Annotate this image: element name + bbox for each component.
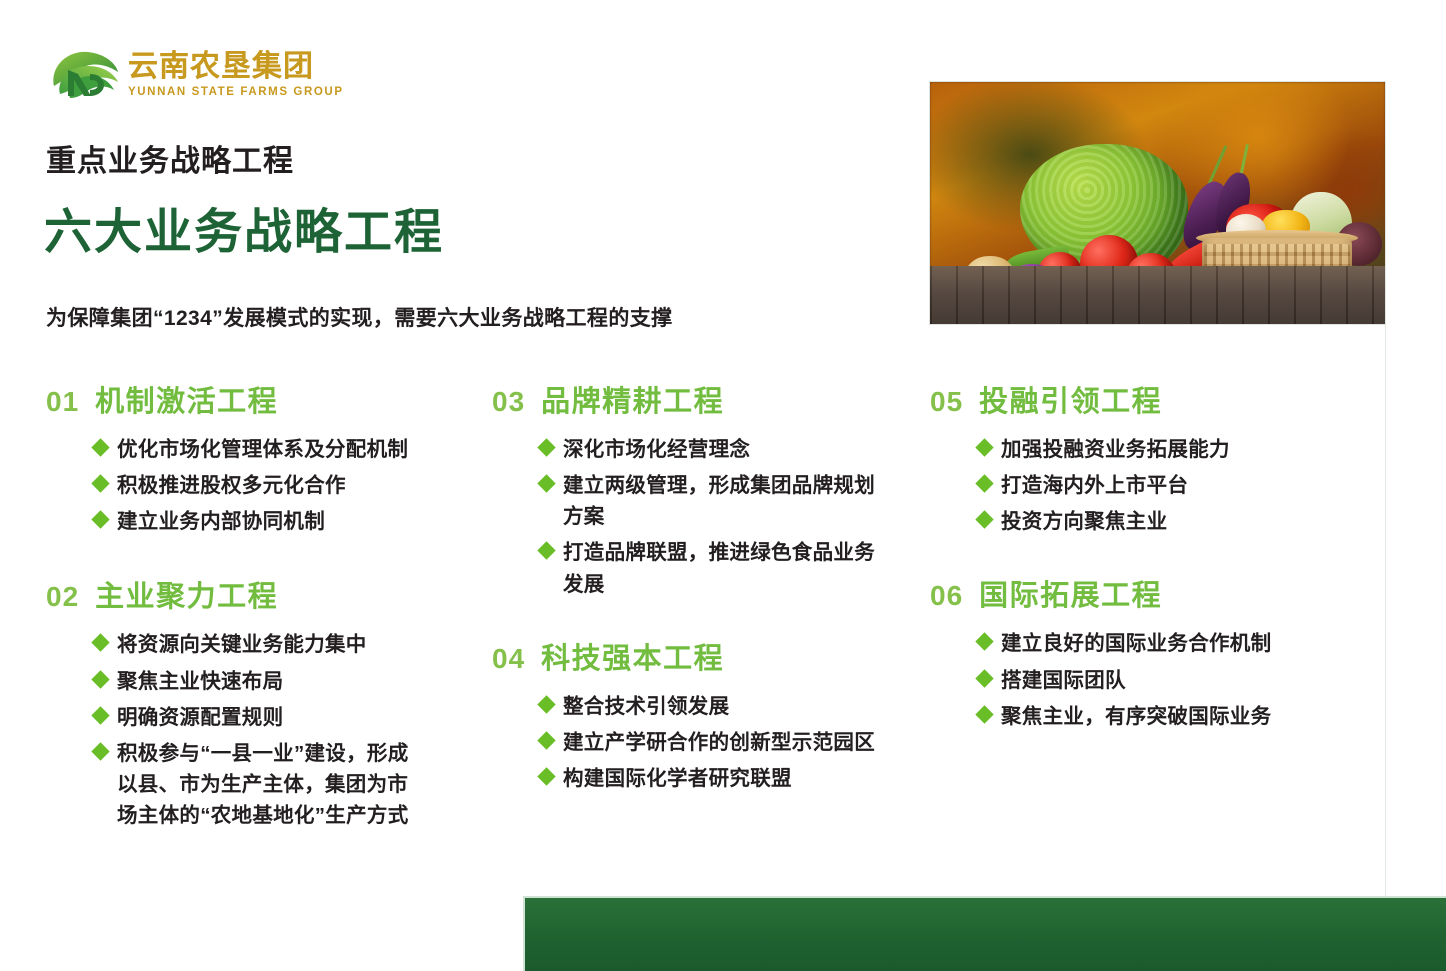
section-number: 01 (46, 386, 79, 418)
list-item: 建立产学研合作的创新型示范园区 (540, 727, 912, 758)
list-item-text: 聚焦主业，有序突破国际业务 (1001, 701, 1271, 732)
diamond-bullet-icon (537, 695, 555, 713)
list-item: 打造品牌联盟，推进绿色食品业务发展 (540, 537, 912, 599)
column-right: 05 投融引领工程 加强投融资业务拓展能力 打造海内外上市平台 投资方向聚焦主业 (930, 378, 1360, 737)
section-05: 05 投融引领工程 加强投融资业务拓展能力 打造海内外上市平台 投资方向聚焦主业 (930, 378, 1360, 537)
list-item-text: 加强投融资业务拓展能力 (1001, 434, 1230, 465)
diamond-bullet-icon (537, 438, 555, 456)
diamond-bullet-icon (91, 742, 109, 760)
diamond-bullet-icon (975, 633, 993, 651)
diamond-bullet-icon (91, 634, 109, 652)
section-01: 01 机制激活工程 优化市场化管理体系及分配机制 积极推进股权多元化合作 建立业… (46, 378, 476, 537)
section-03-bullets: 深化市场化经营理念 建立两级管理，形成集团品牌规划方案 打造品牌联盟，推进绿色食… (492, 434, 912, 600)
section-05-header: 05 投融引领工程 (930, 378, 1360, 420)
leaf-logo-icon (48, 46, 122, 104)
list-item: 积极推进股权多元化合作 (94, 470, 476, 501)
list-item: 投资方向聚焦主业 (978, 506, 1360, 537)
section-05-bullets: 加强投融资业务拓展能力 打造海内外上市平台 投资方向聚焦主业 (930, 434, 1360, 537)
list-item: 积极参与“一县一业”建设，形成以县、市为生产主体，集团为市场主体的“农地基地化”… (94, 738, 476, 831)
section-06-bullets: 建立良好的国际业务合作机制 搭建国际团队 聚焦主业，有序突破国际业务 (930, 628, 1360, 731)
section-06-header: 06 国际拓展工程 (930, 572, 1360, 614)
column-left: 01 机制激活工程 优化市场化管理体系及分配机制 积极推进股权多元化合作 建立业… (46, 378, 476, 836)
list-item-text: 打造海内外上市平台 (1001, 470, 1188, 501)
section-02-header: 02 主业聚力工程 (46, 573, 476, 615)
list-item: 明确资源配置规则 (94, 702, 476, 733)
list-item: 打造海内外上市平台 (978, 470, 1360, 501)
list-item-text: 积极推进股权多元化合作 (117, 470, 346, 501)
diamond-bullet-icon (91, 474, 109, 492)
diamond-bullet-icon (537, 767, 555, 785)
brand-name-cn: 云南农垦集团 (128, 52, 344, 82)
section-title: 科技强本工程 (541, 635, 724, 677)
list-item-text: 投资方向聚焦主业 (1001, 506, 1167, 537)
section-02-bullets: 将资源向关键业务能力集中 聚焦主业快速布局 明确资源配置规则 积极参与“一县一业… (46, 629, 476, 831)
list-item-text: 建立两级管理，形成集团品牌规划方案 (563, 470, 893, 532)
diamond-bullet-icon (537, 474, 555, 492)
list-item-text: 建立良好的国际业务合作机制 (1001, 628, 1271, 659)
list-item: 建立业务内部协同机制 (94, 506, 476, 537)
section-title: 投融引领工程 (979, 378, 1162, 420)
list-item-text: 明确资源配置规则 (117, 702, 283, 733)
diamond-bullet-icon (975, 474, 993, 492)
list-item-text: 建立产学研合作的创新型示范园区 (563, 727, 875, 758)
list-item: 聚焦主业快速布局 (94, 666, 476, 697)
list-item: 深化市场化经营理念 (540, 434, 912, 465)
list-item-text: 深化市场化经营理念 (563, 434, 750, 465)
list-item: 加强投融资业务拓展能力 (978, 434, 1360, 465)
bottom-green-bar (523, 896, 1446, 971)
diamond-bullet-icon (537, 542, 555, 560)
slide-eyebrow: 重点业务战略工程 (46, 136, 294, 180)
slide-headline: 六大业务战略工程 (44, 192, 444, 262)
section-number: 03 (492, 386, 525, 418)
section-02: 02 主业聚力工程 将资源向关键业务能力集中 聚焦主业快速布局 明确资源配置规则 (46, 573, 476, 831)
section-title: 主业聚力工程 (95, 573, 278, 615)
list-item-text: 优化市场化管理体系及分配机制 (117, 434, 408, 465)
slide-edge-line (1385, 324, 1386, 896)
list-item-text: 整合技术引领发展 (563, 691, 729, 722)
list-item: 搭建国际团队 (978, 665, 1360, 696)
section-title: 品牌精耕工程 (541, 378, 724, 420)
diamond-bullet-icon (975, 705, 993, 723)
diamond-bullet-icon (537, 731, 555, 749)
diamond-bullet-icon (91, 670, 109, 688)
list-item-text: 积极参与“一县一业”建设，形成以县、市为生产主体，集团为市场主体的“农地基地化”… (117, 738, 417, 831)
list-item: 将资源向关键业务能力集中 (94, 629, 476, 660)
diamond-bullet-icon (91, 706, 109, 724)
section-03-header: 03 品牌精耕工程 (492, 378, 912, 420)
section-03: 03 品牌精耕工程 深化市场化经营理念 建立两级管理，形成集团品牌规划方案 打造… (492, 378, 912, 600)
section-04-bullets: 整合技术引领发展 建立产学研合作的创新型示范园区 构建国际化学者研究联盟 (492, 691, 912, 794)
list-item-text: 将资源向关键业务能力集中 (117, 629, 367, 660)
list-item-text: 打造品牌联盟，推进绿色食品业务发展 (563, 537, 893, 599)
diamond-bullet-icon (91, 511, 109, 529)
diamond-bullet-icon (975, 511, 993, 529)
section-number: 02 (46, 581, 79, 613)
section-number: 06 (930, 580, 963, 612)
list-item-text: 聚焦主业快速布局 (117, 666, 283, 697)
list-item: 聚焦主业，有序突破国际业务 (978, 701, 1360, 732)
section-04-header: 04 科技强本工程 (492, 635, 912, 677)
list-item-text: 搭建国际团队 (1001, 665, 1126, 696)
list-item: 优化市场化管理体系及分配机制 (94, 434, 476, 465)
section-06: 06 国际拓展工程 建立良好的国际业务合作机制 搭建国际团队 聚焦主业，有序突破… (930, 572, 1360, 731)
list-item-text: 建立业务内部协同机制 (117, 506, 325, 537)
brand-logo: 云南农垦集团 YUNNAN STATE FARMS GROUP (48, 44, 348, 106)
section-number: 05 (930, 386, 963, 418)
section-title: 机制激活工程 (95, 378, 278, 420)
wooden-table-surface (930, 266, 1385, 324)
diamond-bullet-icon (975, 669, 993, 687)
brand-name-en: YUNNAN STATE FARMS GROUP (128, 87, 344, 99)
slide-lede: 为保障集团“1234”发展模式的实现，需要六大业务战略工程的支撑 (46, 302, 673, 332)
diamond-bullet-icon (91, 438, 109, 456)
section-01-bullets: 优化市场化管理体系及分配机制 积极推进股权多元化合作 建立业务内部协同机制 (46, 434, 476, 537)
list-item: 建立良好的国际业务合作机制 (978, 628, 1360, 659)
list-item: 整合技术引领发展 (540, 691, 912, 722)
section-01-header: 01 机制激活工程 (46, 378, 476, 420)
section-04: 04 科技强本工程 整合技术引领发展 建立产学研合作的创新型示范园区 构建国际化… (492, 635, 912, 794)
hero-vegetables-image (930, 82, 1385, 324)
section-number: 04 (492, 643, 525, 675)
column-middle: 03 品牌精耕工程 深化市场化经营理念 建立两级管理，形成集团品牌规划方案 打造… (492, 378, 912, 799)
list-item: 建立两级管理，形成集团品牌规划方案 (540, 470, 912, 532)
list-item: 构建国际化学者研究联盟 (540, 763, 912, 794)
list-item-text: 构建国际化学者研究联盟 (563, 763, 792, 794)
diamond-bullet-icon (975, 438, 993, 456)
section-title: 国际拓展工程 (979, 572, 1162, 614)
